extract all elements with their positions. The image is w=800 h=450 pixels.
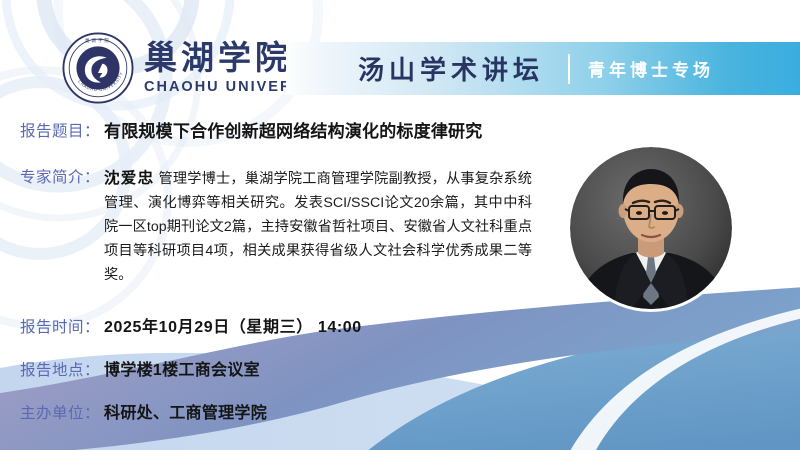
time-label: 报告时间： — [20, 317, 100, 339]
host-value: 科研处、工商管理学院 — [104, 403, 267, 425]
speaker-portrait-photo-icon — [570, 147, 732, 309]
poster-root: 巢湖学院 CHAOHU UNIVERSITY 巢湖学院 CHAOHU UNIVE… — [0, 0, 800, 450]
bio-text: 管理学博士，巢湖学院工商管理学院副教授，从事复杂系统管理、演化博弈等相关研究。发… — [104, 171, 532, 283]
chaohu-university-crest-icon: 巢湖学院 CHAOHU UNIVERSITY — [62, 32, 134, 104]
row-place: 报告地点： 博学楼1楼工商会议室 — [0, 360, 800, 382]
speaker-portrait — [570, 147, 732, 309]
title-label: 报告题目： — [20, 121, 100, 143]
forum-banner-title: 汤山学术讲坛 — [358, 50, 544, 87]
row-time: 报告时间： 2025年10月29日（星期三） 14:00 — [0, 317, 800, 339]
bio-label: 专家简介： — [20, 167, 100, 189]
place-label: 报告地点： — [20, 360, 100, 382]
row-title: 报告题目： 有限规模下合作创新超网络结构演化的标度律研究 — [0, 121, 800, 143]
forum-banner-subtitle: 青年博士专场 — [588, 56, 714, 81]
title-value: 有限规模下合作创新超网络结构演化的标度律研究 — [104, 121, 482, 143]
bio-body: 沈爱忠 管理学博士，巢湖学院工商管理学院副教授，从事复杂系统管理、演化博弈等相关… — [104, 167, 532, 287]
place-value: 博学楼1楼工商会议室 — [104, 360, 260, 382]
speaker-name: 沈爱忠 — [104, 170, 154, 187]
banner-divider — [568, 54, 570, 84]
forum-banner: 汤山学术讲坛 青年博士专场 — [286, 42, 800, 95]
host-label: 主办单位： — [20, 403, 100, 425]
time-value: 2025年10月29日（星期三） 14:00 — [104, 317, 362, 339]
poster-header: 巢湖学院 CHAOHU UNIVERSITY 巢湖学院 CHAOHU UNIVE… — [0, 0, 800, 112]
row-host: 主办单位： 科研处、工商管理学院 — [0, 403, 800, 425]
